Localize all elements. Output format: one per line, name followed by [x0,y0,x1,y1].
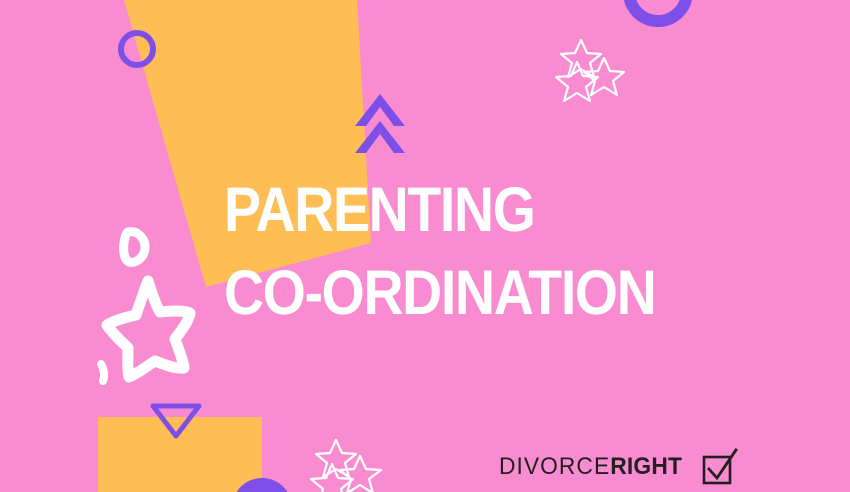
checkbox-tick-icon [701,448,739,486]
brand-logo-wordmark: DIVORCERIGHT [499,455,682,479]
brand-logo[interactable]: DIVORCERIGHT [499,448,739,486]
poster-canvas: PARENTING CO-ORDINATION DIVORCERIGHT [0,0,850,492]
title-line-2: CO-ORDINATION [224,264,655,324]
white-comma-blob [101,364,104,381]
brand-word-right: RIGHT [610,453,682,480]
brand-word-divorce: DIVORCE [499,453,610,480]
page-title: PARENTING CO-ORDINATION [224,181,714,324]
title-line-1: PARENTING [224,181,655,241]
